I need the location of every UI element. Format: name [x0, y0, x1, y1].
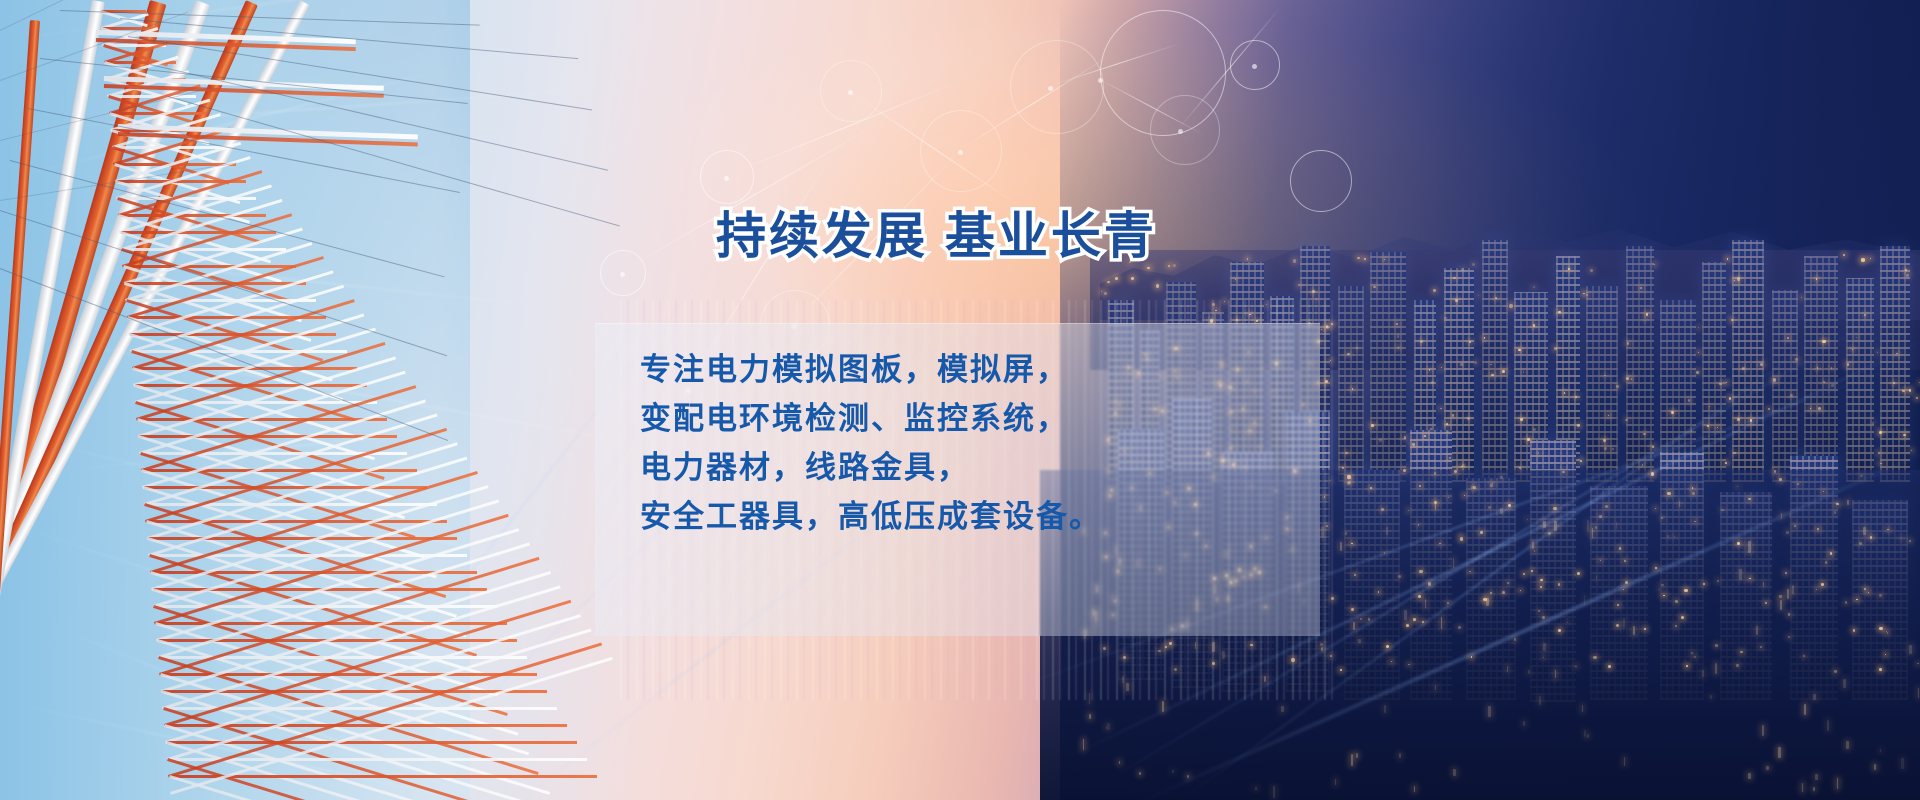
city-light — [1760, 363, 1763, 366]
city-light — [1472, 263, 1475, 266]
building — [1626, 246, 1654, 482]
water-reflection — [1813, 694, 1815, 699]
water-reflection — [1804, 704, 1806, 715]
water-reflection — [1863, 527, 1865, 535]
city-light — [1419, 570, 1422, 573]
city-light — [1490, 592, 1492, 594]
water-reflection — [1633, 626, 1635, 636]
city-light — [1717, 580, 1718, 581]
water-reflection — [1543, 643, 1546, 651]
city-light — [1736, 664, 1738, 666]
water-reflection — [1486, 598, 1489, 606]
water-reflection — [1255, 787, 1257, 790]
city-light — [1903, 434, 1905, 436]
city-light — [1788, 636, 1790, 638]
hero-banner: 持续发展 基业长青 专注电力模拟图板，模拟屏， 变配电环境检测、监控系统， 电力… — [0, 0, 1920, 800]
city-light — [1347, 475, 1350, 478]
city-light — [1830, 552, 1833, 555]
city-light — [1825, 561, 1827, 563]
city-light — [1412, 443, 1415, 446]
water-reflection — [1780, 600, 1782, 610]
city-light — [1694, 656, 1696, 658]
city-light — [1870, 258, 1871, 259]
city-light — [1131, 277, 1134, 280]
city-light — [1845, 601, 1847, 603]
city-light — [1593, 656, 1596, 659]
city-light — [1847, 363, 1849, 365]
water-reflection — [1792, 585, 1793, 594]
banner-headline: 持续发展 基业长青 — [716, 196, 1157, 268]
tech-node — [620, 272, 625, 277]
city-light — [1469, 341, 1471, 343]
city-light — [1502, 591, 1505, 594]
city-light — [1626, 377, 1629, 380]
city-light — [1406, 624, 1409, 627]
city-light — [1879, 668, 1882, 671]
city-light — [1661, 584, 1663, 586]
building — [1732, 240, 1764, 482]
city-light — [1768, 408, 1770, 410]
water-reflection — [1748, 773, 1751, 779]
city-light — [1816, 278, 1817, 279]
tech-ring — [1290, 150, 1352, 212]
city-light — [1906, 274, 1908, 276]
water-reflection — [1667, 535, 1668, 538]
water-reflection — [1386, 527, 1387, 535]
city-light — [1709, 406, 1710, 407]
tower-brace — [122, 248, 286, 251]
city-light — [1507, 582, 1509, 584]
city-light — [1455, 299, 1458, 302]
city-light — [1603, 439, 1605, 441]
water-reflection — [1281, 706, 1283, 712]
city-light — [1878, 452, 1880, 454]
city-light — [1531, 570, 1533, 572]
city-light — [1444, 317, 1447, 320]
city-light — [1834, 511, 1837, 514]
city-light — [1488, 506, 1491, 509]
city-light — [1502, 370, 1505, 373]
city-light — [1868, 592, 1869, 593]
water-reflection — [1710, 695, 1712, 699]
city-light — [1480, 531, 1483, 534]
city-light — [1681, 616, 1684, 619]
water-reflection — [1528, 670, 1531, 674]
water-reflection — [1356, 753, 1358, 758]
water-reflection — [1435, 685, 1436, 689]
city-light — [1473, 486, 1476, 489]
city-light — [1643, 433, 1645, 435]
city-light — [1404, 436, 1406, 438]
tech-node — [1178, 129, 1183, 134]
city-light — [1495, 297, 1497, 299]
water-reflection — [1107, 723, 1110, 730]
water-reflection — [1488, 706, 1491, 718]
city-light — [1340, 669, 1342, 671]
city-light — [1879, 431, 1882, 434]
city-light — [1737, 418, 1740, 421]
city-light — [1644, 628, 1646, 630]
city-light — [1818, 407, 1821, 410]
city-light — [1721, 509, 1723, 511]
water-reflection — [1787, 589, 1788, 599]
water-reflection — [1119, 761, 1120, 764]
city-light — [1434, 472, 1437, 475]
city-light — [1371, 424, 1374, 427]
water-reflection — [1901, 758, 1904, 768]
city-light — [1794, 525, 1796, 527]
water-reflection — [1587, 520, 1589, 532]
city-light — [1408, 664, 1409, 665]
building — [1702, 262, 1726, 482]
water-reflection — [1815, 774, 1818, 780]
building — [1482, 240, 1508, 482]
city-light — [1836, 503, 1838, 505]
city-light — [1617, 604, 1619, 606]
water-reflection — [1353, 622, 1354, 630]
city-light — [1870, 536, 1872, 538]
city-light — [1748, 498, 1751, 501]
city-light — [1795, 358, 1798, 361]
city-light — [1107, 281, 1109, 283]
tower-brace — [124, 265, 297, 268]
water-reflection — [1843, 679, 1846, 688]
city-light — [1439, 543, 1440, 544]
building — [1772, 290, 1798, 482]
city-light — [1452, 414, 1455, 417]
city-light — [1616, 385, 1619, 388]
water-reflection — [1399, 753, 1401, 758]
water-reflection — [1778, 747, 1781, 758]
water-reflection — [1909, 645, 1912, 654]
city-light — [1460, 363, 1463, 366]
body-line-3: 电力器材，线路金具， — [640, 443, 1320, 492]
city-light — [1861, 258, 1864, 261]
water-reflection — [1441, 617, 1443, 629]
city-light — [1725, 462, 1727, 464]
water-reflection — [1874, 764, 1876, 770]
water-reflection — [1827, 720, 1829, 731]
city-light — [1540, 586, 1542, 588]
city-light — [1538, 610, 1540, 612]
city-light — [1893, 382, 1895, 384]
city-light — [1568, 268, 1570, 270]
city-light — [1742, 367, 1745, 370]
city-light — [1345, 452, 1348, 455]
water-reflection — [1679, 501, 1680, 507]
city-light — [1590, 269, 1593, 272]
water-reflection — [1837, 778, 1838, 789]
city-light — [1707, 425, 1709, 427]
water-reflection — [1715, 663, 1717, 674]
body-line-1: 专注电力模拟图板，模拟屏， — [640, 345, 1320, 394]
water-reflection — [1847, 500, 1849, 505]
city-light — [1785, 572, 1787, 574]
city-light — [1352, 388, 1354, 390]
city-light — [1431, 381, 1434, 384]
water-reflection — [1453, 769, 1456, 776]
water-reflection — [1539, 696, 1541, 706]
city-light — [1168, 265, 1170, 267]
city-light — [1625, 419, 1628, 422]
city-light — [1901, 538, 1902, 539]
tower-brace — [144, 486, 427, 489]
tech-node — [724, 176, 729, 181]
building — [1586, 286, 1618, 482]
city-light — [1357, 257, 1359, 259]
water-reflection — [1273, 786, 1275, 798]
city-light — [1877, 352, 1878, 353]
city-light — [1619, 547, 1621, 549]
city-light — [1686, 665, 1688, 667]
tower-brace — [121, 231, 277, 234]
city-light — [1917, 663, 1919, 665]
tech-ring — [1150, 95, 1220, 165]
city-light — [1661, 517, 1663, 519]
city-light — [1509, 304, 1512, 307]
city-light — [1694, 521, 1695, 522]
building — [1338, 286, 1364, 482]
city-light — [1424, 435, 1426, 437]
water-reflection — [1351, 754, 1353, 766]
city-light — [1370, 487, 1372, 489]
city-light — [1608, 665, 1611, 668]
city-light — [1737, 277, 1740, 280]
city-light — [1740, 651, 1743, 654]
city-light — [1688, 399, 1690, 401]
water-reflection — [1340, 542, 1342, 551]
city-light — [1373, 286, 1375, 288]
city-light — [1905, 269, 1907, 271]
city-light — [1604, 447, 1607, 450]
water-reflection — [1089, 714, 1091, 719]
city-light — [1604, 375, 1605, 376]
tower-brace — [119, 214, 266, 217]
city-light — [1595, 526, 1597, 528]
water-reflection — [1762, 725, 1764, 736]
city-light — [1902, 390, 1904, 392]
water-reflection — [1748, 541, 1751, 553]
city-light — [1398, 575, 1401, 578]
water-reflection — [1846, 741, 1849, 749]
city-light — [1605, 505, 1608, 508]
city-light — [1490, 484, 1492, 486]
water-reflection — [1523, 721, 1525, 725]
city-light — [1675, 625, 1676, 626]
city-light — [1520, 418, 1523, 421]
city-light — [1627, 342, 1629, 344]
body-line-4: 安全工器具，高低压成套设备。 — [640, 492, 1320, 541]
tech-node — [1252, 64, 1257, 69]
city-light — [1797, 483, 1799, 485]
city-light — [1293, 259, 1296, 262]
city-light — [1527, 438, 1530, 441]
city-light — [1652, 446, 1654, 448]
water-reflection — [1623, 618, 1625, 628]
city-light — [1449, 457, 1451, 459]
city-light — [1397, 335, 1400, 338]
city-light — [1715, 644, 1718, 647]
building — [1804, 256, 1838, 482]
water-reflection — [1172, 770, 1174, 773]
city-light — [1491, 374, 1494, 377]
tower-brace — [138, 418, 387, 421]
city-light — [1403, 469, 1406, 472]
city-light — [1737, 542, 1740, 545]
city-light — [1448, 497, 1449, 498]
city-light — [1787, 337, 1789, 339]
water-reflection — [1739, 569, 1742, 580]
city-light — [1879, 594, 1882, 597]
body-line-2: 变配电环境检测、监控系统， — [640, 394, 1320, 443]
city-light — [1461, 268, 1464, 271]
water-reflection — [1702, 670, 1704, 677]
banner-body-copy: 专注电力模拟图板，模拟屏， 变配电环境检测、监控系统， 电力器材，线路金具， 安… — [640, 345, 1320, 541]
water-reflection — [1766, 766, 1768, 770]
water-reflection — [1756, 626, 1758, 636]
city-light — [1684, 589, 1687, 592]
water-reflection — [1658, 588, 1660, 592]
water-reflection — [1404, 610, 1406, 621]
city-light — [1586, 294, 1588, 296]
city-light — [1461, 466, 1462, 467]
city-light — [1821, 583, 1824, 586]
water-reflection — [1345, 532, 1347, 535]
city-light — [1413, 618, 1416, 621]
city-light — [1562, 471, 1565, 474]
city-light — [1879, 627, 1882, 630]
city-light — [1484, 337, 1485, 338]
water-reflection — [1584, 730, 1587, 737]
city-light — [1446, 423, 1448, 425]
tower-brace — [125, 282, 306, 285]
city-light — [1909, 389, 1911, 391]
city-light — [1834, 670, 1837, 673]
city-light — [1577, 424, 1580, 427]
water-reflection — [1358, 639, 1361, 643]
